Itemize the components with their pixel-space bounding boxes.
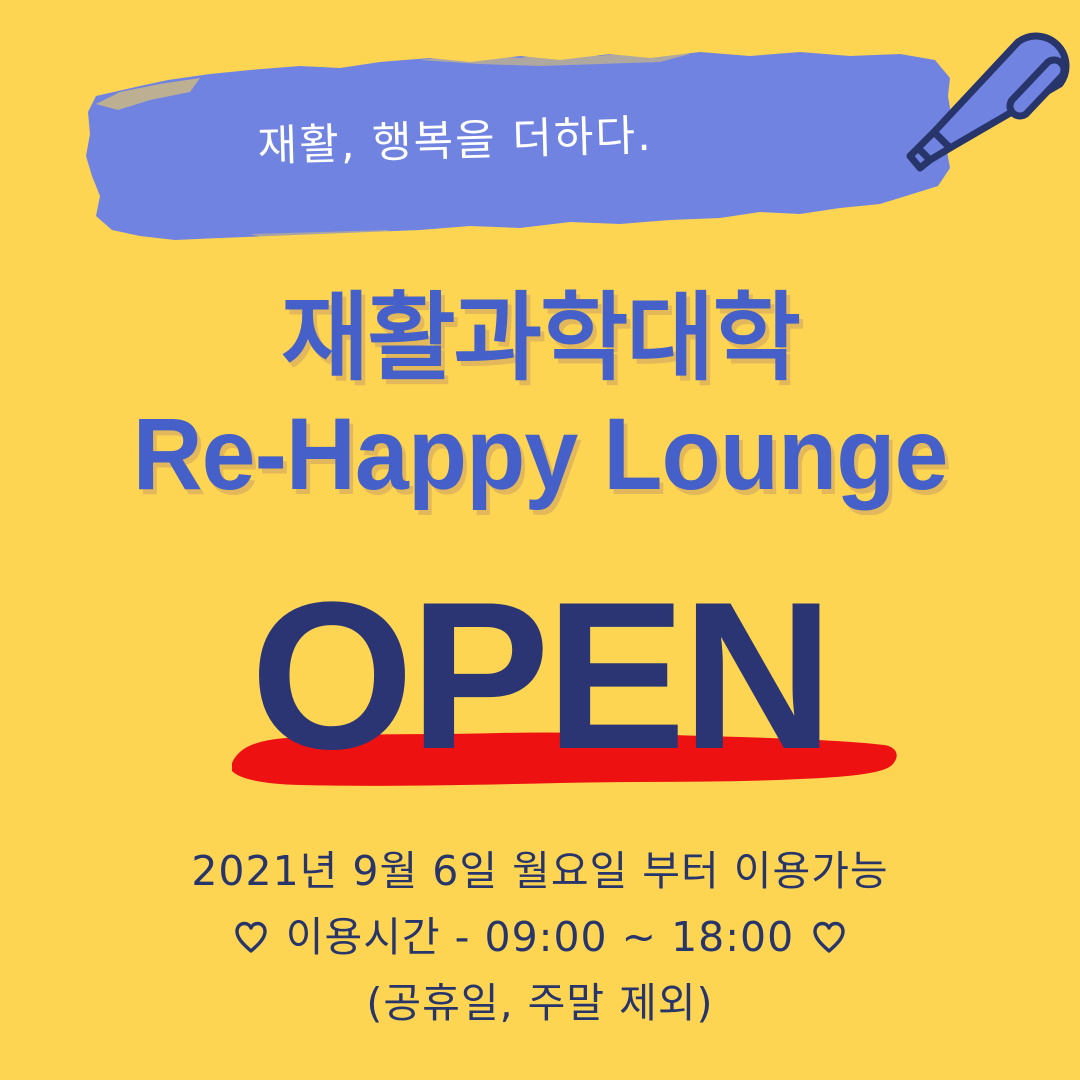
headline-block: 재활과학대학 Re-Happy Lounge [0,288,1080,505]
heart-outline-icon [812,920,846,954]
info-line-date: 2021년 9월 6일 월요일 부터 이용가능 [0,838,1080,904]
status-badge: OPEN [0,571,1080,781]
banner: 재활, 행복을 더하다. [0,0,1080,260]
page-title-korean: 재활과학대학 [0,288,1080,389]
heart-outline-icon [234,920,268,954]
status-block: OPEN [0,565,1080,800]
poster-canvas: 재활, 행복을 더하다. 재활과학대학 Re-Happy Lounge OPEN [0,0,1080,1080]
page-title-english: Re-Happy Lounge [27,403,1053,505]
info-hours-text: 이용시간 - 09:00 ~ 18:00 [286,904,794,970]
info-block: 2021년 9월 6일 월요일 부터 이용가능 이용시간 - 09:00 ~ 1… [0,838,1080,1036]
info-line-exclusions: (공휴일, 주말 제외) [0,970,1080,1036]
highlighter-marker-icon [890,0,1080,190]
info-line-hours: 이용시간 - 09:00 ~ 18:00 [0,904,1080,970]
